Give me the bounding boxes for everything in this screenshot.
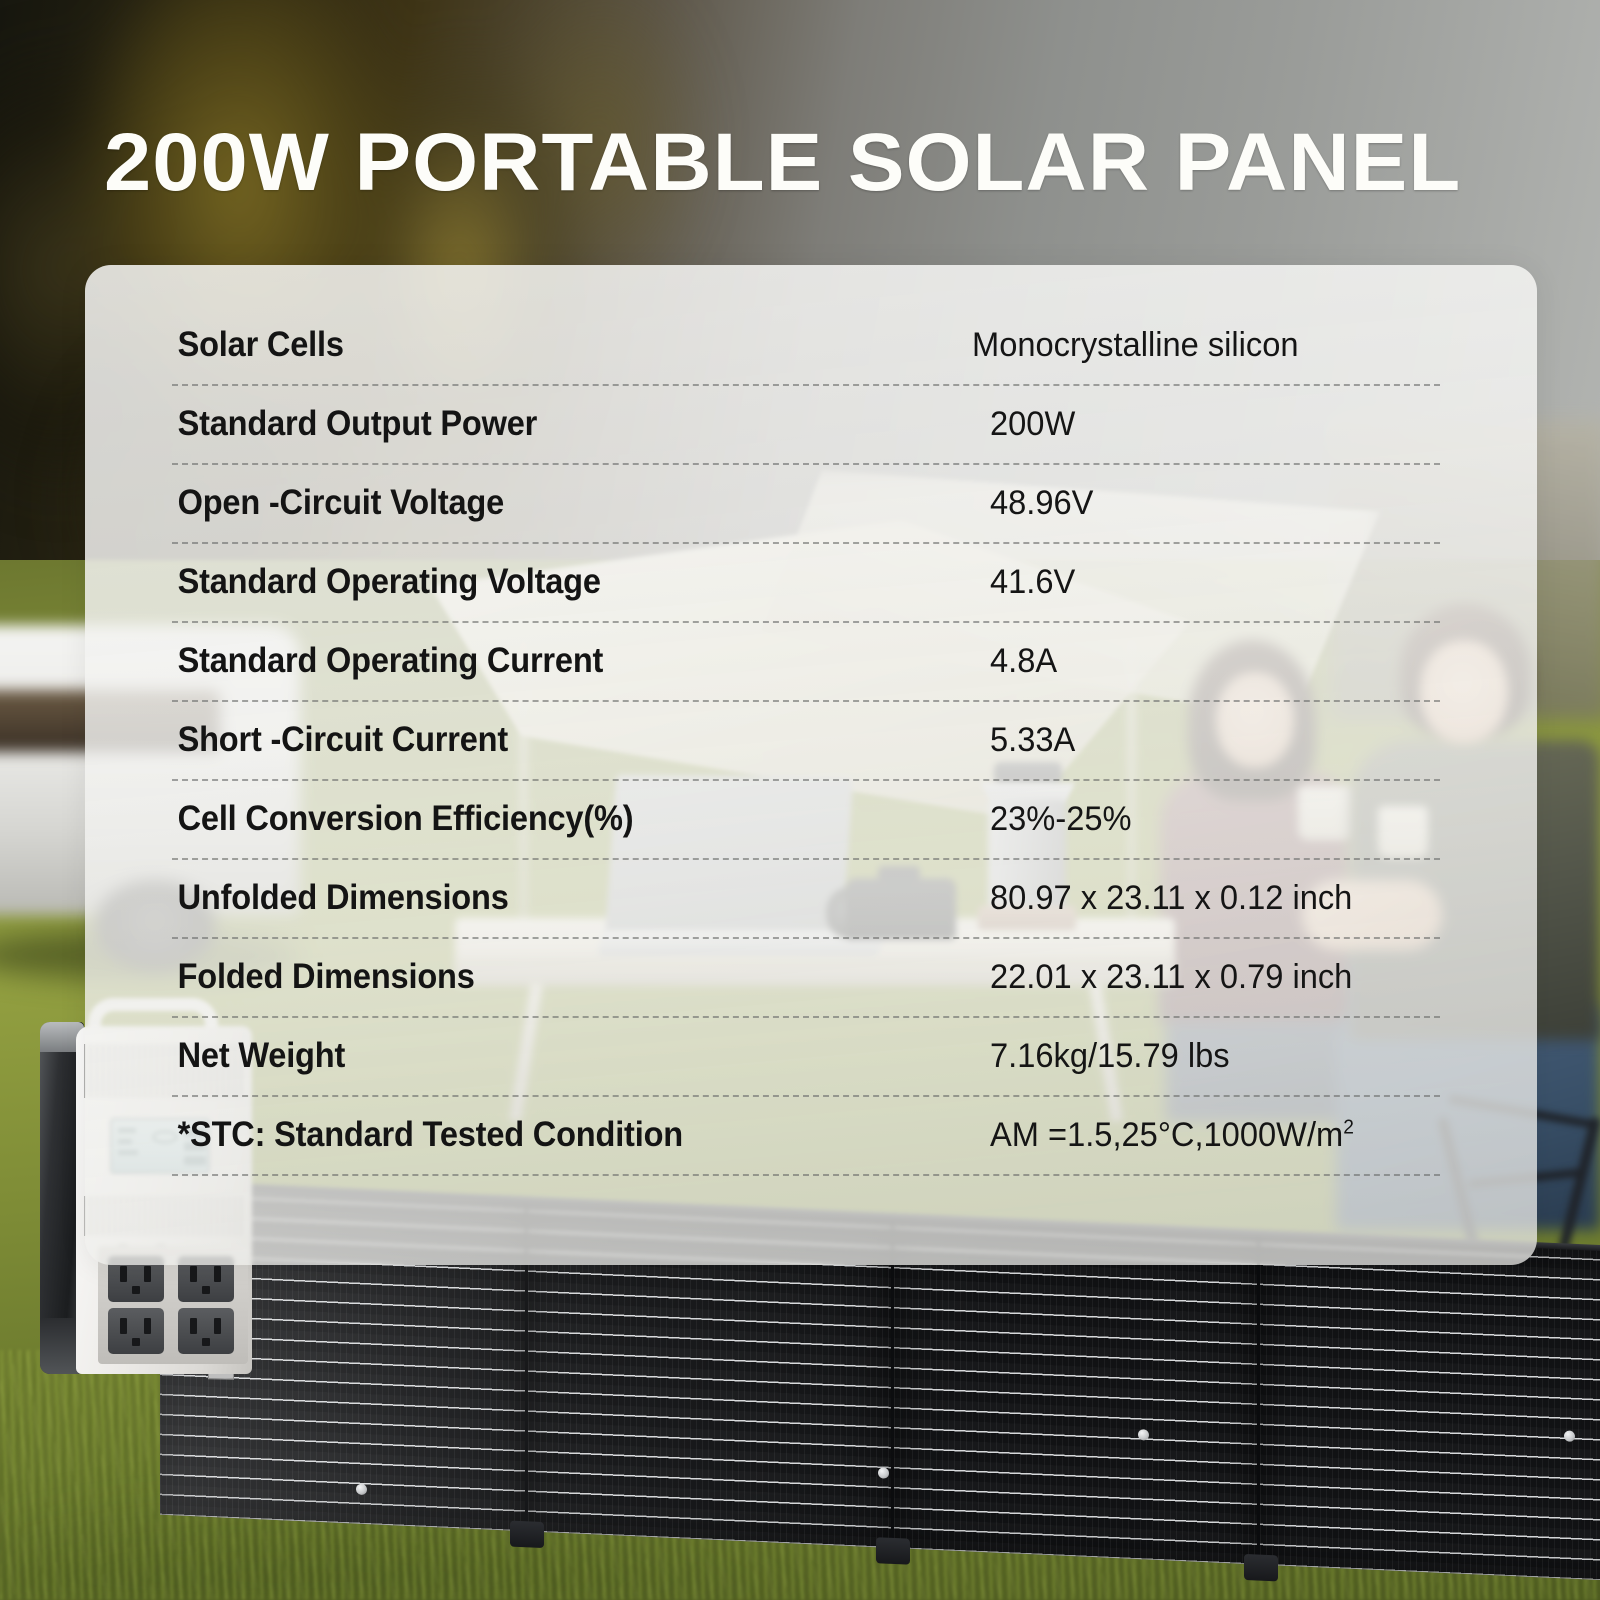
spec-row: Cell Conversion Efficiency(%)23%-25% [172, 779, 1440, 858]
spec-row: Folded Dimensions22.01 x 23.11 x 0.79 in… [172, 937, 1440, 1016]
row-divider [172, 1016, 1440, 1018]
spec-row: Standard Operating Voltage41.6V [172, 542, 1440, 621]
row-divider [172, 542, 1440, 544]
row-divider [172, 384, 1440, 386]
spec-row: Net Weight7.16kg/15.79 lbs [172, 1016, 1440, 1095]
solar-panel-grommet [878, 1467, 889, 1478]
page-title: 200W PORTABLE SOLAR PANEL [104, 122, 1461, 204]
row-divider [172, 1174, 1440, 1176]
spec-label: Folded Dimensions [172, 959, 933, 994]
row-divider [172, 621, 1440, 623]
row-divider [172, 858, 1440, 860]
specification-table: Solar CellsMonocrystalline siliconStanda… [172, 305, 1440, 1176]
spec-value: 200W [990, 407, 1422, 441]
row-divider [172, 1095, 1440, 1097]
ac-outlet[interactable] [178, 1308, 234, 1354]
spec-value: 48.96V [990, 486, 1422, 520]
spec-label: Open -Circuit Voltage [172, 485, 933, 520]
ac-outlet[interactable] [108, 1308, 164, 1354]
solar-panel-grommet [356, 1484, 367, 1495]
spec-value: 41.6V [990, 565, 1422, 599]
spec-label: Net Weight [172, 1038, 933, 1073]
spec-label: Standard Operating Current [172, 643, 933, 678]
spec-label: *STC: Standard Tested Condition [172, 1117, 933, 1152]
row-divider [172, 779, 1440, 781]
spec-value: AM =1.5,25°C,1000W/m2 [990, 1118, 1422, 1152]
spec-value: 5.33A [990, 723, 1422, 757]
spec-row: Short -Circuit Current5.33A [172, 700, 1440, 779]
spec-value: 4.8A [990, 644, 1422, 678]
spec-row: Unfolded Dimensions80.97 x 23.11 x 0.12 … [172, 858, 1440, 937]
row-divider [172, 463, 1440, 465]
solar-panel-segment [894, 1218, 1260, 1565]
solar-panel-grommet [1138, 1429, 1149, 1440]
product-infographic: 200W PORTABLE SOLAR PANEL Solar CellsMon… [0, 0, 1600, 1600]
solar-panel-stand-foot [1244, 1554, 1278, 1582]
spec-value: 23%-25% [990, 802, 1422, 836]
solar-panel-stand-foot [876, 1537, 910, 1565]
spec-label: Cell Conversion Efficiency(%) [172, 801, 933, 836]
spec-row: *STC: Standard Tested ConditionAM =1.5,2… [172, 1095, 1440, 1174]
spec-value: 22.01 x 23.11 x 0.79 inch [990, 960, 1422, 994]
solar-panel-grommet [1564, 1430, 1575, 1441]
spec-value: 80.97 x 23.11 x 0.12 inch [990, 881, 1422, 915]
spec-label: Solar Cells [172, 327, 933, 362]
spec-value: 7.16kg/15.79 lbs [990, 1039, 1422, 1073]
row-divider [172, 937, 1440, 939]
spec-label: Standard Operating Voltage [172, 564, 933, 599]
spec-label: Unfolded Dimensions [172, 880, 933, 915]
spec-row: Solar CellsMonocrystalline silicon [172, 305, 1440, 384]
unit-superscript: 2 [1343, 1116, 1354, 1138]
row-divider [172, 700, 1440, 702]
solar-panel-stand-foot [510, 1521, 544, 1549]
spec-row: Open -Circuit Voltage48.96V [172, 463, 1440, 542]
spec-label: Short -Circuit Current [172, 722, 933, 757]
spec-value: Monocrystalline silicon [972, 328, 1421, 362]
spec-row: Standard Output Power200W [172, 384, 1440, 463]
specification-card: Solar CellsMonocrystalline siliconStanda… [85, 265, 1537, 1265]
spec-row: Standard Operating Current4.8A [172, 621, 1440, 700]
solar-panel-segment [1260, 1235, 1600, 1582]
spec-label: Standard Output Power [172, 406, 933, 441]
